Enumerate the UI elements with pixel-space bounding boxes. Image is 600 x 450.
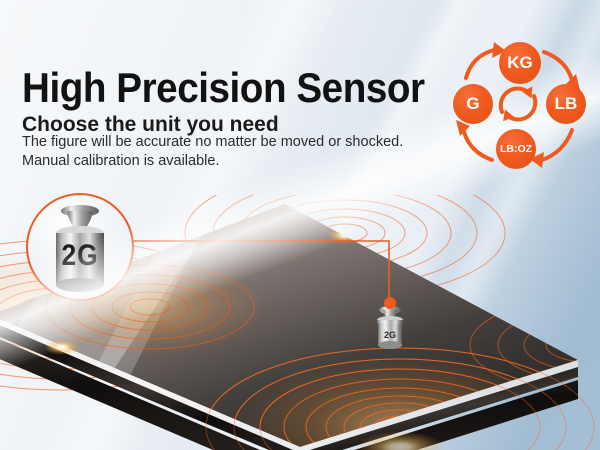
description-line-2: Manual calibration is available. (22, 152, 462, 171)
unit-label-lb: LB (555, 94, 578, 114)
unit-badge-g[interactable]: G (453, 84, 493, 124)
callout-weight-label: 2G (34, 239, 126, 273)
weight-callout: 2G (26, 193, 134, 301)
unit-badge-lboz[interactable]: LB:OZ (496, 129, 536, 169)
glow-sensor-icon (327, 226, 363, 244)
promo-banner: 2G (0, 0, 600, 450)
page-description: The figure will be accurate no matter be… (22, 133, 462, 171)
unit-label-kg: KG (507, 53, 533, 73)
unit-label-g: G (466, 94, 479, 114)
unit-cycle-diagram: KG LB LB:OZ G (452, 34, 584, 174)
glow-sensor-icon (44, 339, 80, 355)
platform-weight: 2G (368, 290, 412, 352)
unit-badge-lb[interactable]: LB (546, 84, 586, 124)
page-title: High Precision Sensor (22, 64, 425, 112)
description-line-1: The figure will be accurate no matter be… (22, 133, 462, 152)
unit-label-lboz: LB:OZ (500, 143, 532, 155)
connector-dot (384, 297, 396, 309)
platform-weight-label: 2G (384, 330, 396, 340)
cycle-refresh-icon (501, 86, 536, 123)
unit-badge-kg[interactable]: KG (499, 42, 541, 84)
